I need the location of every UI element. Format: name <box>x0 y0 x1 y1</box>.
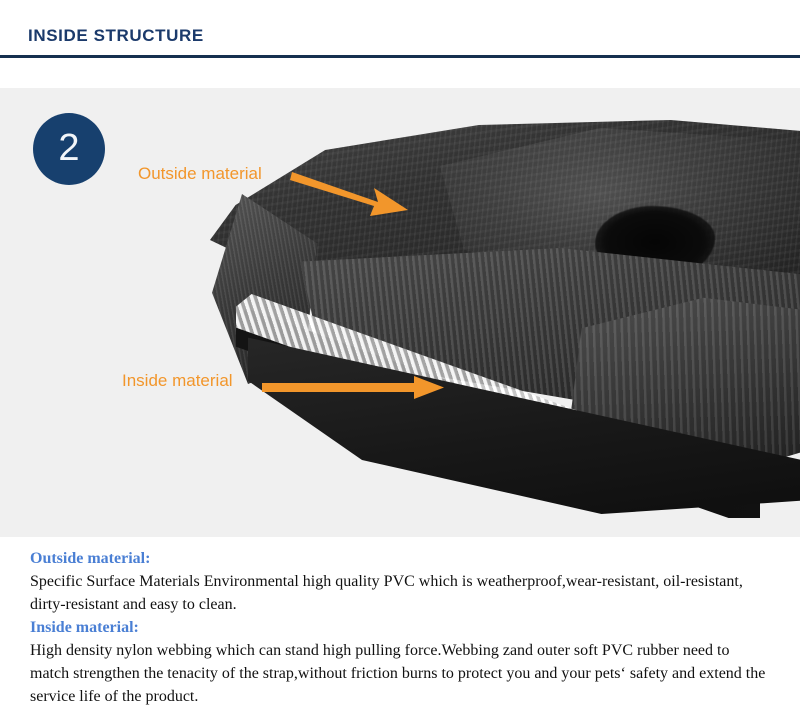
step-badge: 2 <box>33 113 105 185</box>
page-header: INSIDE STRUCTURE <box>0 0 800 57</box>
photo-panel: 2 Outside material Inside material <box>0 88 800 537</box>
page-title: INSIDE STRUCTURE <box>28 26 204 46</box>
description-content: Outside material: Specific Surface Mater… <box>30 547 772 708</box>
product-cross-section-photo <box>0 88 800 537</box>
header-divider <box>0 55 800 58</box>
callout-arrow-inside-material-icon <box>262 375 444 401</box>
callout-label-outside-material: Outside material <box>138 164 262 184</box>
description-body-outside-material: Specific Surface Materials Environmental… <box>30 570 772 616</box>
step-badge-number: 2 <box>33 113 105 185</box>
callout-label-inside-material: Inside material <box>122 371 233 391</box>
description-body-inside-material: High density nylon webbing which can sta… <box>30 639 772 708</box>
description-heading-inside-material: Inside material: <box>30 616 772 639</box>
callout-arrow-outside-material-icon <box>290 166 410 226</box>
description-heading-outside-material: Outside material: <box>30 547 772 570</box>
description-section: Outside material: Specific Surface Mater… <box>0 537 800 722</box>
